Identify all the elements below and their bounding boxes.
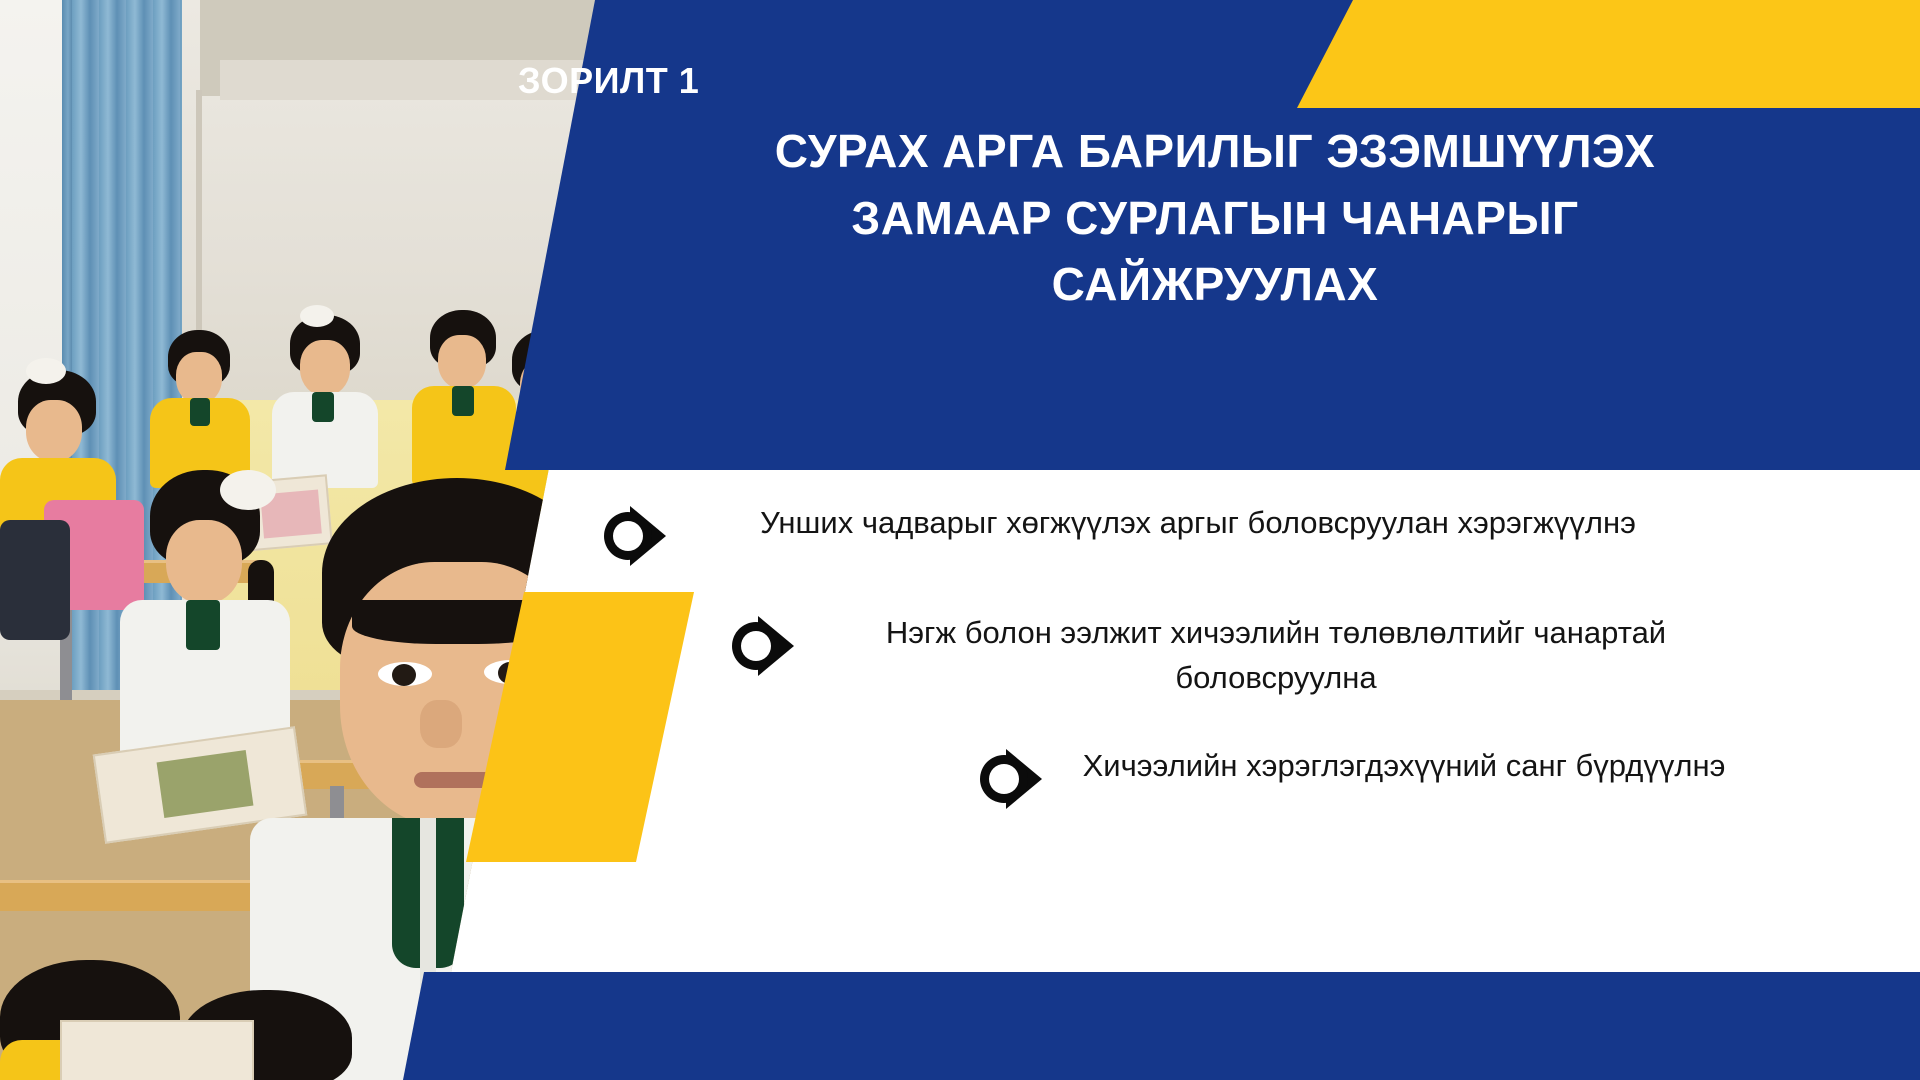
- circle-arrow-bullet-icon: [728, 614, 800, 678]
- photo-notebook: [60, 1020, 254, 1080]
- bullet-text-3: Хичээлийн хэрэглэгдэхүүний санг бүрдүүлн…: [1072, 743, 1736, 788]
- photo-backpack: [0, 520, 70, 640]
- circle-arrow-bullet-icon: [600, 504, 672, 568]
- bullet-list: Унших чадварыг хөгжүүлэх аргыг боловсруу…: [600, 500, 1890, 853]
- bullet-text-2: Нэгж болон ээлжит хичээлийн төлөвлөлтийг…: [824, 610, 1728, 701]
- bullet-item-3: Хичээлийн хэрэглэгдэхүүний санг бүрдүүлн…: [976, 743, 1736, 811]
- accent-shape-top-right: [1297, 0, 1920, 108]
- slide-root: ЗОРИЛТ 1 СУРАХ АРГА БАРИЛЫГ ЭЗЭМШҮҮЛЭХ З…: [0, 0, 1920, 1080]
- slide-title-line-2: ЗАМААР СУРЛАГЫН ЧАНАРЫГ: [560, 185, 1870, 252]
- slide-title-line-1: СУРАХ АРГА БАРИЛЫГ ЭЗЭМШҮҮЛЭХ: [560, 118, 1870, 185]
- slide-title-line-3: САЙЖРУУЛАХ: [560, 251, 1870, 318]
- bullet-item-2: Нэгж болон ээлжит хичээлийн төлөвлөлтийг…: [728, 610, 1728, 701]
- slide-kicker: ЗОРИЛТ 1: [518, 60, 699, 102]
- slide-title: СУРАХ АРГА БАРИЛЫГ ЭЗЭМШҮҮЛЭХ ЗАМААР СУР…: [560, 118, 1870, 318]
- circle-arrow-bullet-icon: [976, 747, 1048, 811]
- bullet-item-1: Унших чадварыг хөгжүүлэх аргыг боловсруу…: [600, 500, 1700, 568]
- bullet-text-1: Унших чадварыг хөгжүүлэх аргыг боловсруу…: [696, 500, 1700, 545]
